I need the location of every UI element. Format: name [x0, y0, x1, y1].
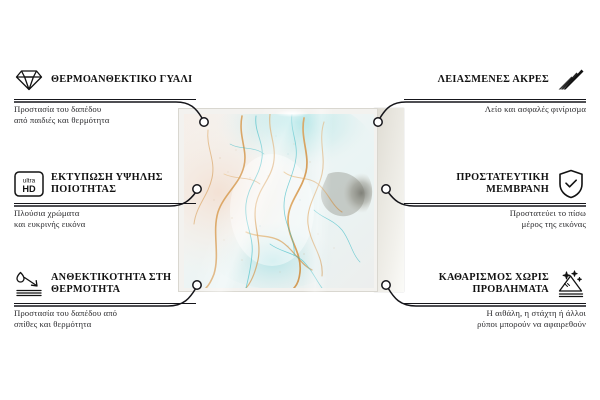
- feature-header: ΑΝΘΕΚΤΙΚΟΤΗΤΑ ΣΤΗ ΘΕΡΜΟΤΗΤΑ: [14, 268, 196, 300]
- feature-subtitle: Η αιθάλη, η στάχτη ή άλλοιρύποι μπορούν …: [404, 308, 586, 330]
- feature-subtitle: Προστατεύει το πίσωμέρος της εικόνας: [404, 208, 586, 230]
- feature-header: ΠΡΟΣΤΑΤΕΥΤΙΚΗ ΜΕΜΒΡΑΝΗ: [404, 168, 586, 200]
- feature-header: ultra HD ΕΚΤΥΠΩΣΗ ΥΨΗΛΗΣ ΠΟΙΟΤΗΤΑΣ: [14, 168, 196, 200]
- feature-subtitle: Πλούσια χρώματακαι ευκρινής εικόνα: [14, 208, 196, 230]
- svg-text:HD: HD: [22, 184, 36, 194]
- product-image: [178, 108, 402, 292]
- feature-title: ΠΡΟΣΤΑΤΕΥΤΙΚΗ ΜΕΜΒΡΑΝΗ: [404, 172, 549, 197]
- glass-side-panel: [374, 108, 404, 292]
- divider: [14, 203, 196, 204]
- feature-header: ΚΑΘΑΡΙΣΜΟΣ ΧΩΡΙΣ ΠΡΟΒΛΗΜΑΤΑ: [404, 268, 586, 300]
- feature-title: ΛΕΙΑΣΜΕΝΕΣ ΑΚΡΕΣ: [438, 74, 549, 86]
- polished-edges-icon: [556, 65, 586, 95]
- divider: [14, 303, 196, 304]
- diamond-icon: [14, 65, 44, 95]
- divider: [404, 303, 586, 304]
- feature-high-quality-print: ultra HD ΕΚΤΥΠΩΣΗ ΥΨΗΛΗΣ ΠΟΙΟΤΗΤΑΣ Πλούσ…: [14, 168, 196, 230]
- feature-subtitle: Λείο και ασφαλές φινίρισμα: [404, 104, 586, 115]
- feature-title: ΕΚΤΥΠΩΣΗ ΥΨΗΛΗΣ ΠΟΙΟΤΗΤΑΣ: [51, 172, 196, 197]
- shield-check-icon: [556, 169, 586, 199]
- feature-protective-membrane: ΠΡΟΣΤΑΤΕΥΤΙΚΗ ΜΕΜΒΡΑΝΗ Προστατεύει το πί…: [404, 168, 586, 230]
- feature-heat-resistant-glass: ΘΕΡΜΟΑΝΘΕΚΤΙΚΟ ΓΥΑΛΙ Προστασία του δαπέδ…: [14, 64, 196, 126]
- feature-polished-edges: ΛΕΙΑΣΜΕΝΕΣ ΑΚΡΕΣ Λείο και ασφαλές φινίρι…: [404, 64, 586, 115]
- divider: [14, 99, 196, 100]
- ultra-hd-icon: ultra HD: [14, 169, 44, 199]
- feature-subtitle: Προστασία του δαπέδου απόσπίθες και θερμ…: [14, 308, 196, 330]
- feature-header: ΘΕΡΜΟΑΝΘΕΚΤΙΚΟ ΓΥΑΛΙ: [14, 64, 196, 96]
- feature-title: ΚΑΘΑΡΙΣΜΟΣ ΧΩΡΙΣ ΠΡΟΒΛΗΜΑΤΑ: [404, 272, 549, 297]
- feature-subtitle: Προστασία του δαπέδουαπό παιδιές και θερ…: [14, 104, 196, 126]
- infographic-stage: ΘΕΡΜΟΑΝΘΕΚΤΙΚΟ ΓΥΑΛΙ Προστασία του δαπέδ…: [0, 0, 600, 400]
- easy-clean-icon: [556, 269, 586, 299]
- artwork-marble: [184, 114, 374, 288]
- feature-heat-durability: ΑΝΘΕΚΤΙΚΟΤΗΤΑ ΣΤΗ ΘΕΡΜΟΤΗΤΑ Προστασία το…: [14, 268, 196, 330]
- heat-resistant-icon: [14, 269, 44, 299]
- divider: [404, 99, 586, 100]
- feature-header: ΛΕΙΑΣΜΕΝΕΣ ΑΚΡΕΣ: [404, 64, 586, 96]
- feature-title: ΑΝΘΕΚΤΙΚΟΤΗΤΑ ΣΤΗ ΘΕΡΜΟΤΗΤΑ: [51, 272, 196, 297]
- glass-front-panel: [178, 108, 378, 292]
- divider: [404, 203, 586, 204]
- feature-easy-cleaning: ΚΑΘΑΡΙΣΜΟΣ ΧΩΡΙΣ ΠΡΟΒΛΗΜΑΤΑ Η αιθάλη, η …: [404, 268, 586, 330]
- feature-title: ΘΕΡΜΟΑΝΘΕΚΤΙΚΟ ΓΥΑΛΙ: [51, 74, 192, 86]
